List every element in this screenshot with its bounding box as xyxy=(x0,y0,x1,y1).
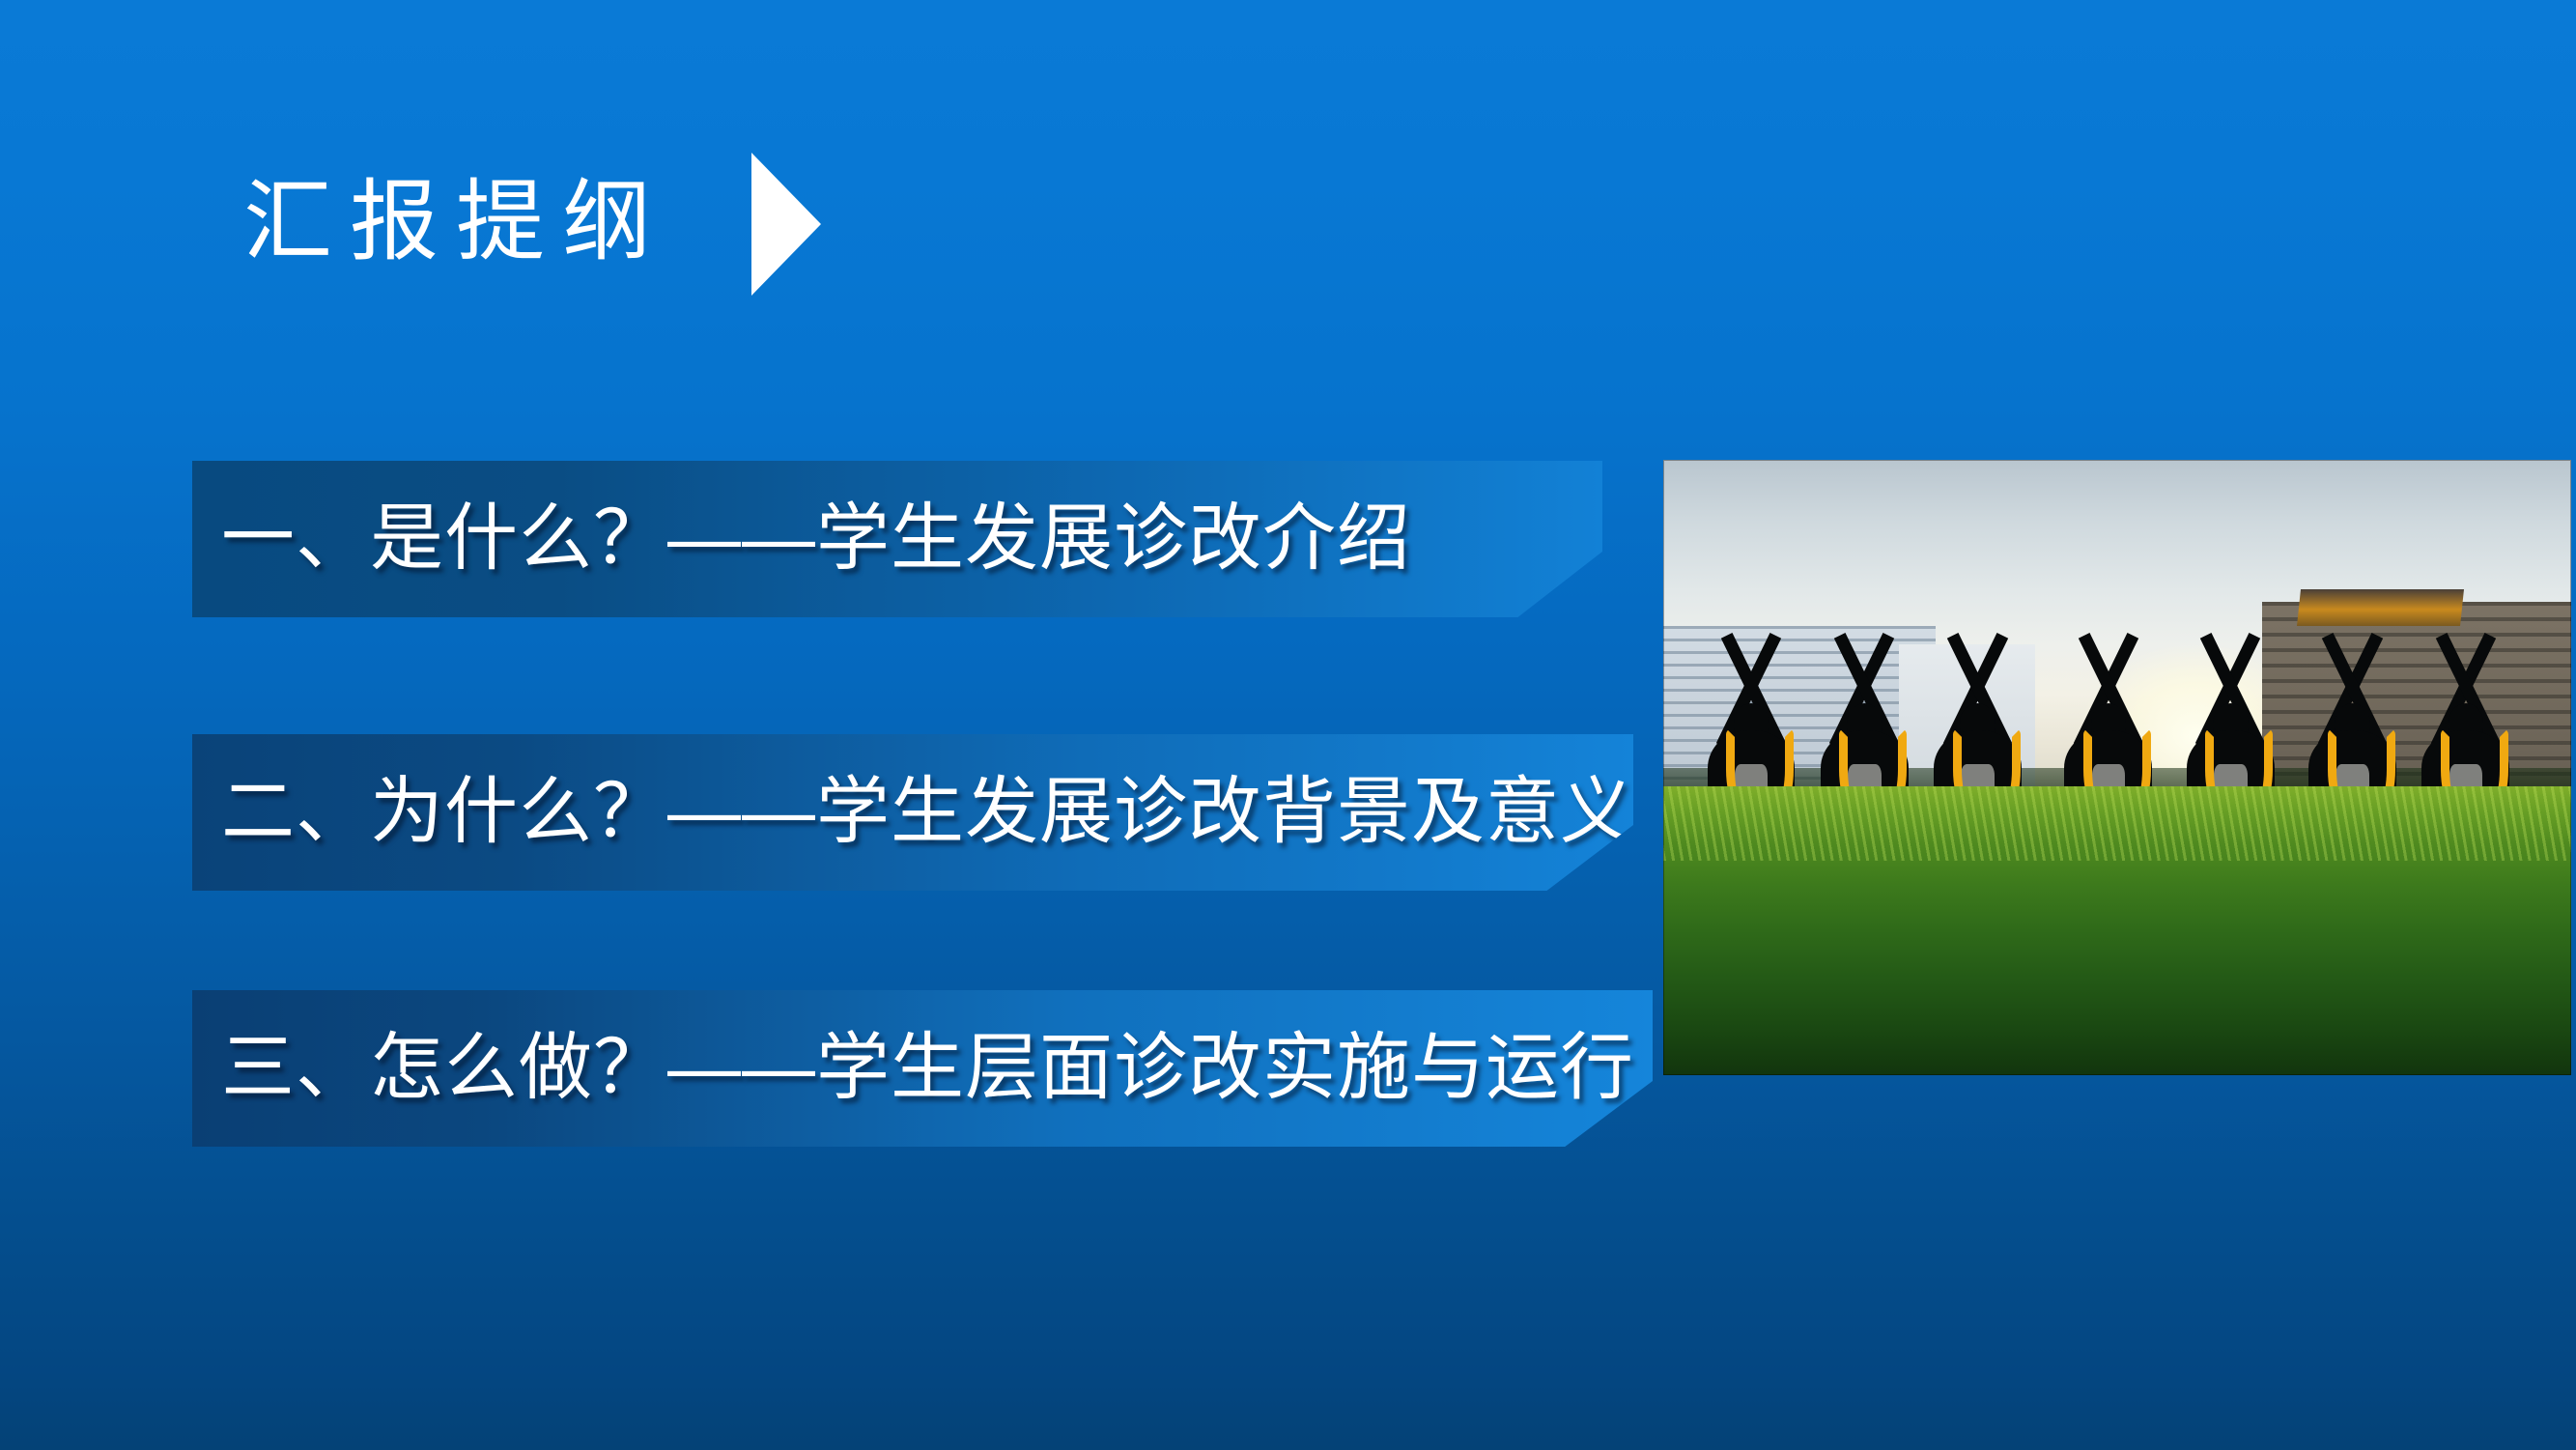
outline-item-2-label: 二、为什么？——学生发展诊改背景及意义 xyxy=(192,776,1634,849)
outline-item-3-label: 三、怎么做？——学生层面诊改实施与运行 xyxy=(192,1032,1634,1105)
outline-item-1-label: 一、是什么？——学生发展诊改介绍 xyxy=(192,502,1411,576)
play-triangle-icon xyxy=(751,153,821,296)
outline-item-1[interactable]: 一、是什么？——学生发展诊改介绍 xyxy=(192,461,1602,617)
photo-border xyxy=(1663,460,2571,1075)
presentation-slide: 汇报提纲 一、是什么？——学生发展诊改介绍 二、为什么？——学生发展诊改背景及意… xyxy=(0,0,2576,1450)
page-title: 汇报提纲 xyxy=(243,178,668,267)
slide-title-group: 汇报提纲 xyxy=(243,145,821,299)
outline-item-2[interactable]: 二、为什么？——学生发展诊改背景及意义 xyxy=(192,734,1633,891)
outline-item-3[interactable]: 三、怎么做？——学生层面诊改实施与运行 xyxy=(192,990,1653,1147)
graduation-photo xyxy=(1663,460,2571,1075)
